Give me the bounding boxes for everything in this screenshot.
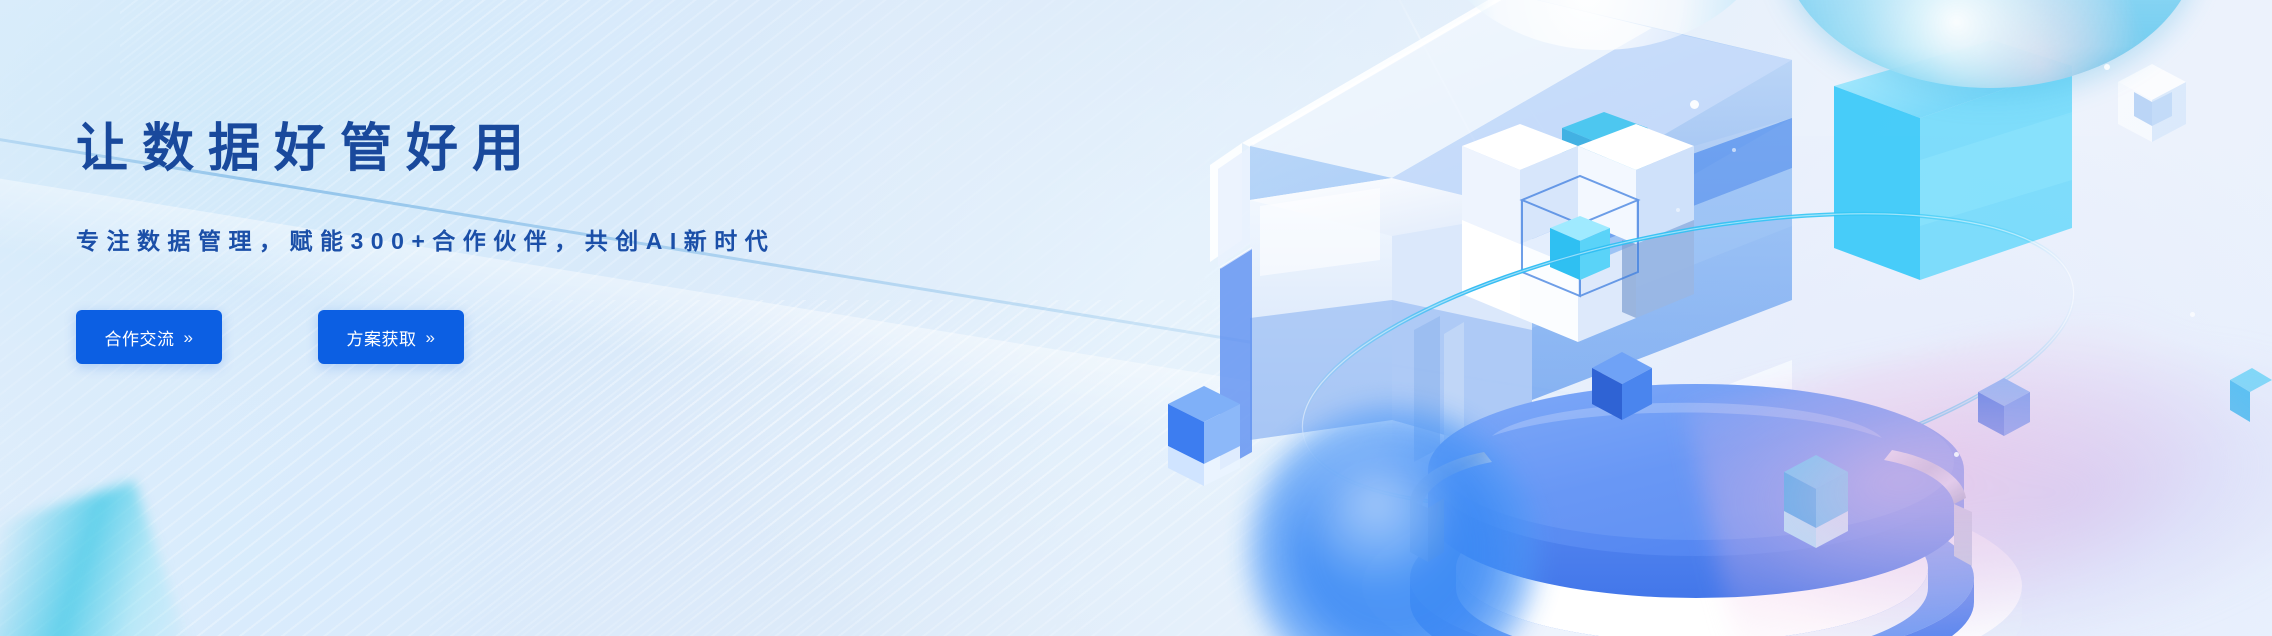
light-ray-icon bbox=[1388, 0, 1587, 352]
sparkle-icon bbox=[1676, 208, 1680, 212]
floating-cube-left bbox=[1168, 386, 1240, 486]
glass-plate-back bbox=[1210, 0, 1510, 266]
light-ray-secondary-icon bbox=[1499, 60, 1659, 315]
solution-button[interactable]: 方案获取 » bbox=[318, 310, 464, 364]
page-title: 让数据好管好用 bbox=[76, 118, 1076, 180]
sparkle-icon bbox=[2190, 312, 2195, 317]
floating-cube-right bbox=[1784, 455, 1848, 548]
floating-cube-center bbox=[1592, 352, 1652, 420]
sparkle-icon bbox=[1690, 100, 1699, 109]
cyan-glass-block bbox=[1834, 40, 2072, 280]
glass-funnel bbox=[1392, 360, 1792, 560]
edge-highlight bbox=[1220, 248, 1252, 268]
podium-top bbox=[1428, 384, 1964, 556]
illustration-vector bbox=[1092, 0, 2272, 636]
accent-bar bbox=[1220, 248, 1252, 470]
blue-orb-icon bbox=[1248, 406, 1538, 636]
wireframe-box bbox=[1522, 176, 1638, 296]
podium-base bbox=[1362, 384, 2022, 636]
chevron-right-icon: » bbox=[184, 329, 194, 346]
hero-copy: 让数据好管好用 专注数据管理，赋能300+合作伙伴，共创AI新时代 合作交流 »… bbox=[76, 118, 1076, 364]
blue-glass-column bbox=[1532, 118, 1792, 400]
hero-illustration bbox=[1092, 0, 2272, 636]
glass-slab-top bbox=[1250, 0, 1792, 268]
cyan-core-cube bbox=[1550, 216, 1610, 280]
floating-cube-far-right bbox=[2230, 368, 2272, 422]
iridescent-glow bbox=[1684, 275, 2272, 636]
translucent-sphere-icon bbox=[1780, 0, 2200, 88]
sparkle-icon bbox=[2104, 64, 2110, 70]
hero-banner: 让数据好管好用 专注数据管理，赋能300+合作伙伴，共创AI新时代 合作交流 »… bbox=[0, 0, 2272, 636]
orbit-ring bbox=[1279, 160, 2097, 561]
floating-glass-cube-top-right bbox=[2118, 64, 2186, 142]
translucent-sphere-secondary-icon bbox=[1422, 0, 1782, 50]
sparkle-icon bbox=[1954, 452, 1959, 457]
edge-highlight bbox=[1252, 0, 1512, 144]
glass-fins bbox=[1414, 316, 1464, 462]
center-cube-cluster bbox=[1462, 112, 1694, 342]
floating-cube-upper-right bbox=[1978, 378, 2030, 436]
metal-clip-right bbox=[1884, 450, 1972, 566]
metal-clip bbox=[1410, 452, 1492, 562]
cooperation-button[interactable]: 合作交流 » bbox=[76, 310, 222, 364]
cta-row: 合作交流 » 方案获取 » bbox=[76, 310, 1076, 364]
chevron-right-icon: » bbox=[426, 329, 436, 346]
sparkle-icon bbox=[1732, 148, 1736, 152]
solution-button-label: 方案获取 bbox=[347, 325, 417, 350]
cyan-shard-decoration bbox=[0, 480, 193, 636]
background-tint-bottom-right bbox=[1452, 136, 2272, 636]
page-subtitle: 专注数据管理，赋能300+合作伙伴，共创AI新时代 bbox=[76, 222, 1076, 256]
main-glass-box bbox=[1250, 178, 1532, 460]
cooperation-button-label: 合作交流 bbox=[105, 325, 175, 350]
